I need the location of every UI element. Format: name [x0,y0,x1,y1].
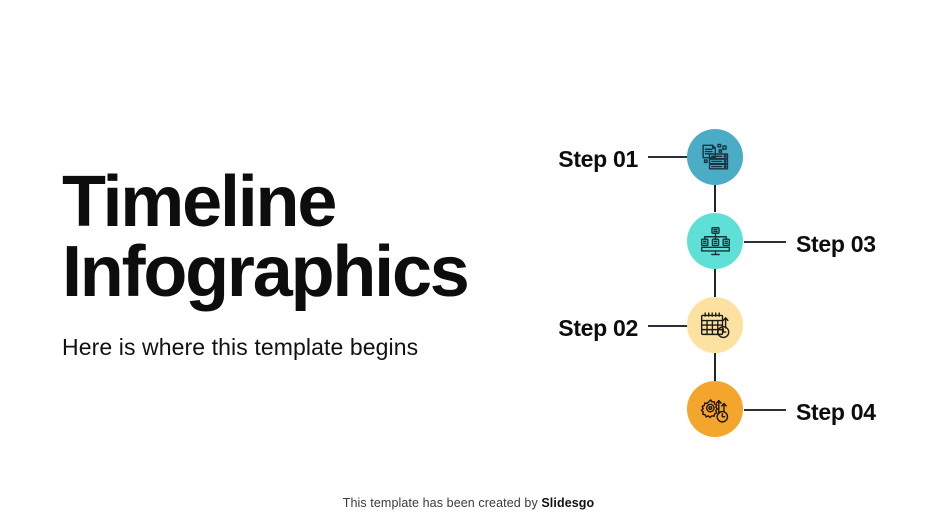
calendar-clock-icon [699,309,732,342]
timeline-spine-segment-1 [714,185,716,212]
documents-server-icon [699,141,732,174]
step-label-04: Step 04 [796,399,937,426]
timeline-infographic: Step 01 [0,0,937,527]
connector-line-step-04 [744,409,786,411]
footer-brand-name: Slidesgo [541,496,594,510]
connector-line-step-02 [648,325,690,327]
connector-line-step-03 [744,241,786,243]
network-diagram-monitor-icon [699,225,732,258]
step-label-03: Step 03 [796,231,937,258]
slide-canvas: Timeline Infographics Here is where this… [0,0,937,527]
gear-growth-clock-icon [699,393,732,426]
footer-credit: This template has been created by Slides… [0,496,937,510]
timeline-node-step-03[interactable] [687,213,743,269]
step-label-02: Step 02 [470,315,638,342]
step-label-01: Step 01 [470,146,638,173]
connector-line-step-01 [648,156,690,158]
timeline-node-step-01[interactable] [687,129,743,185]
timeline-node-step-04[interactable] [687,381,743,437]
timeline-spine-segment-3 [714,353,716,381]
timeline-spine-segment-2 [714,268,716,297]
timeline-node-step-02[interactable] [687,297,743,353]
footer-credit-text: This template has been created by [343,496,542,510]
